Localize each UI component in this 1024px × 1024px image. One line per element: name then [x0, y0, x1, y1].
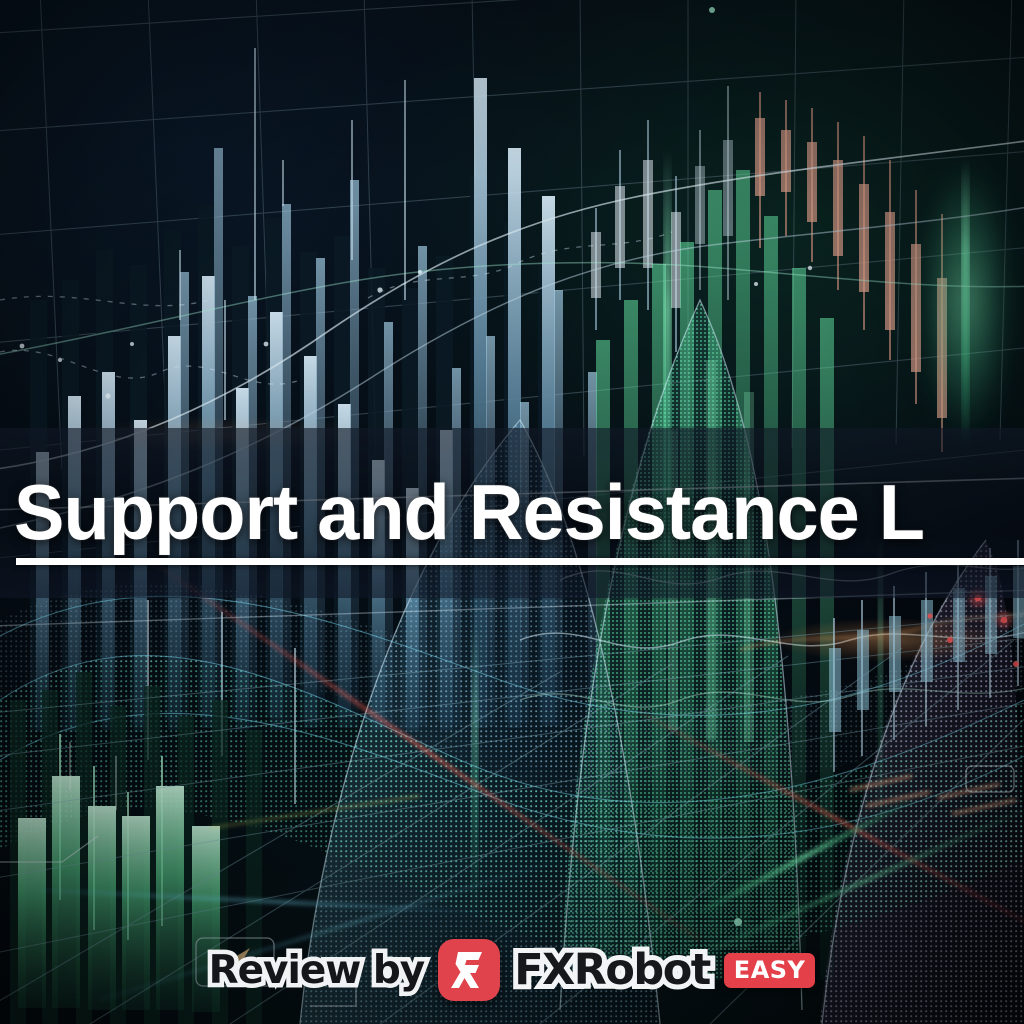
- brand-lockup: Review by FXRobot EASY: [0, 930, 1024, 1010]
- hero-image: Support and Resistance L Review by FXRob…: [0, 0, 1024, 1024]
- title-underline: [16, 558, 1024, 565]
- status-badge: EASY: [724, 953, 816, 988]
- brand-name: FXRobot: [514, 945, 710, 995]
- review-by-label: Review by: [209, 948, 425, 993]
- page-title: Support and Resistance L: [14, 466, 1024, 562]
- fxrobot-f-monogram-icon[interactable]: [438, 939, 500, 1001]
